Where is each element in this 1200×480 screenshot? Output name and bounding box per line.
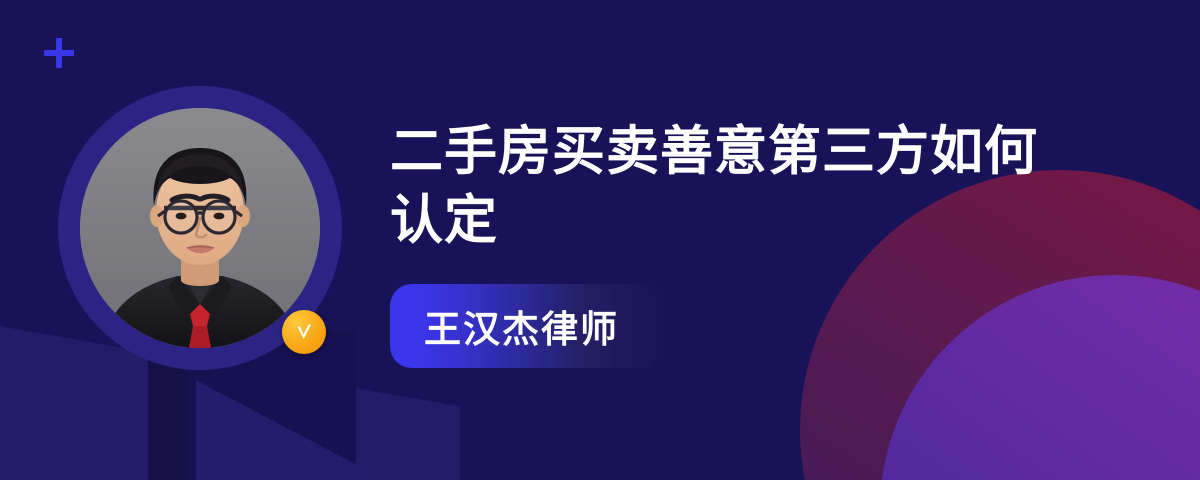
plus-icon bbox=[44, 38, 74, 68]
verified-badge-icon bbox=[282, 310, 326, 354]
avatar-photo bbox=[80, 108, 320, 348]
author-button[interactable]: 王汉杰律师 bbox=[390, 284, 663, 368]
avatar[interactable] bbox=[58, 86, 342, 370]
banner-content: 二手房买卖善意第三方如何认定 王汉杰律师 bbox=[390, 118, 1090, 368]
article-banner: 二手房买卖善意第三方如何认定 王汉杰律师 bbox=[0, 0, 1200, 480]
portrait-illustration bbox=[80, 108, 320, 348]
page-title: 二手房买卖善意第三方如何认定 bbox=[390, 118, 1050, 256]
